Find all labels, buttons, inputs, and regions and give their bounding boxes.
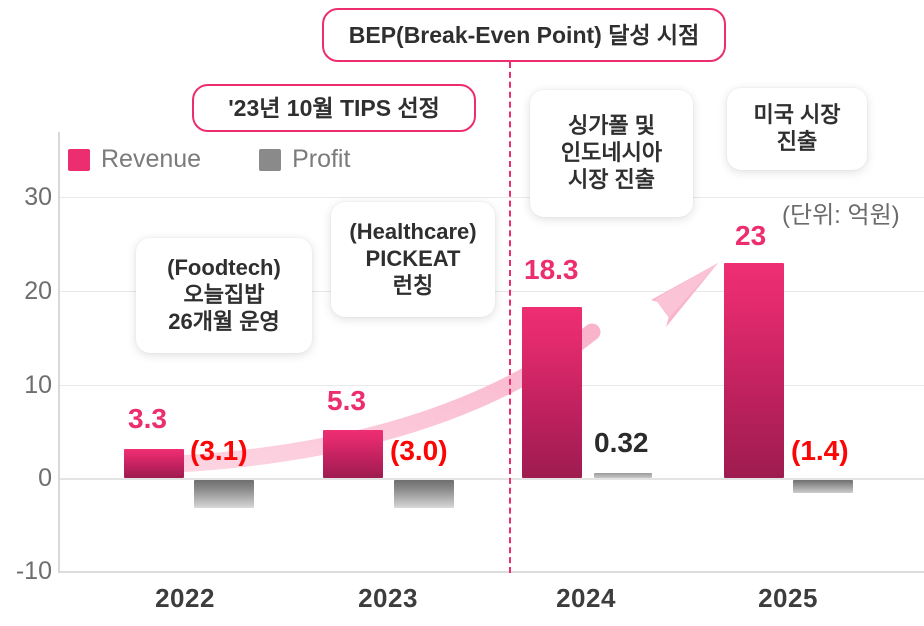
- annotation-foodtech-line2: 오늘집밥: [184, 282, 265, 309]
- bar-profit-2023[interactable]: [394, 480, 454, 508]
- x-tick-2025: 2025: [738, 583, 838, 614]
- gridline-10: [58, 385, 924, 386]
- annotation-usa-line2: 진출: [777, 129, 817, 156]
- annotation-usa[interactable]: 미국 시장 진출: [727, 88, 867, 170]
- bep-divider-line: [509, 62, 511, 573]
- chart-canvas: 30 20 10 0 -10 Revenue Profit: [0, 0, 924, 626]
- annotation-sea-line2: 인도네시아: [561, 140, 662, 167]
- annotation-pickeat[interactable]: (Healthcare) PICKEAT 런칭: [331, 202, 495, 317]
- legend-swatch-revenue-icon: [68, 149, 90, 171]
- annotation-tips-text: '23년 10월 TIPS 선정: [228, 94, 440, 122]
- legend-swatch-profit-icon: [259, 149, 281, 171]
- y-axis-line: [58, 132, 60, 573]
- value-label-profit-2025: (1.4): [791, 437, 849, 465]
- y-tick-0: 0: [0, 466, 52, 491]
- annotation-foodtech[interactable]: (Foodtech) 오늘집밥 26개월 운영: [136, 238, 312, 353]
- value-label-profit-2024: 0.32: [594, 429, 649, 457]
- annotation-sea-line1: 싱가폴 및: [568, 113, 655, 140]
- annotation-usa-line1: 미국 시장: [753, 102, 840, 129]
- annotation-pickeat-line1: (Healthcare): [349, 219, 476, 246]
- bar-revenue-2022[interactable]: [124, 449, 184, 478]
- bar-revenue-2025[interactable]: [724, 263, 784, 478]
- value-label-revenue-2022: 3.3: [128, 405, 167, 433]
- bar-profit-2024[interactable]: [594, 473, 652, 478]
- x-tick-2023: 2023: [338, 583, 438, 614]
- annotation-bep-text: BEP(Break-Even Point) 달성 시점: [349, 21, 699, 49]
- bar-revenue-2024[interactable]: [522, 307, 582, 478]
- bar-profit-2022[interactable]: [194, 480, 254, 508]
- bar-revenue-2023[interactable]: [323, 430, 383, 478]
- annotation-foodtech-line3: 26개월 운영: [168, 309, 280, 336]
- value-label-revenue-2024: 18.3: [524, 256, 579, 284]
- legend-item-revenue[interactable]: Revenue: [68, 147, 201, 172]
- x-tick-2022: 2022: [135, 583, 235, 614]
- gridline-minus10: [58, 571, 924, 573]
- annotation-tips[interactable]: '23년 10월 TIPS 선정: [192, 84, 476, 132]
- annotation-southeast-asia[interactable]: 싱가폴 및 인도네시아 시장 진출: [530, 90, 693, 217]
- value-label-revenue-2023: 5.3: [327, 387, 366, 415]
- annotation-pickeat-line3: 런칭: [393, 273, 433, 300]
- y-tick-10: 10: [0, 373, 52, 398]
- y-tick-minus10: -10: [0, 559, 52, 584]
- bar-profit-2025[interactable]: [793, 480, 853, 493]
- gridline-30: [58, 197, 924, 198]
- y-tick-30: 30: [0, 185, 52, 210]
- annotation-bep[interactable]: BEP(Break-Even Point) 달성 시점: [322, 8, 726, 62]
- x-tick-2024: 2024: [536, 583, 636, 614]
- annotation-foodtech-line1: (Foodtech): [167, 255, 281, 282]
- annotation-pickeat-line2: PICKEAT: [366, 246, 461, 273]
- y-tick-20: 20: [0, 279, 52, 304]
- legend-label-profit: Profit: [292, 147, 350, 172]
- unit-note: (단위: 억원): [782, 204, 900, 228]
- value-label-revenue-2025: 23: [735, 222, 766, 250]
- annotation-sea-line3: 시장 진출: [568, 167, 655, 194]
- legend-item-profit[interactable]: Profit: [259, 147, 350, 172]
- value-label-profit-2023: (3.0): [390, 437, 448, 465]
- chart-legend: Revenue Profit: [68, 147, 350, 172]
- legend-label-revenue: Revenue: [101, 147, 201, 172]
- value-label-profit-2022: (3.1): [190, 437, 248, 465]
